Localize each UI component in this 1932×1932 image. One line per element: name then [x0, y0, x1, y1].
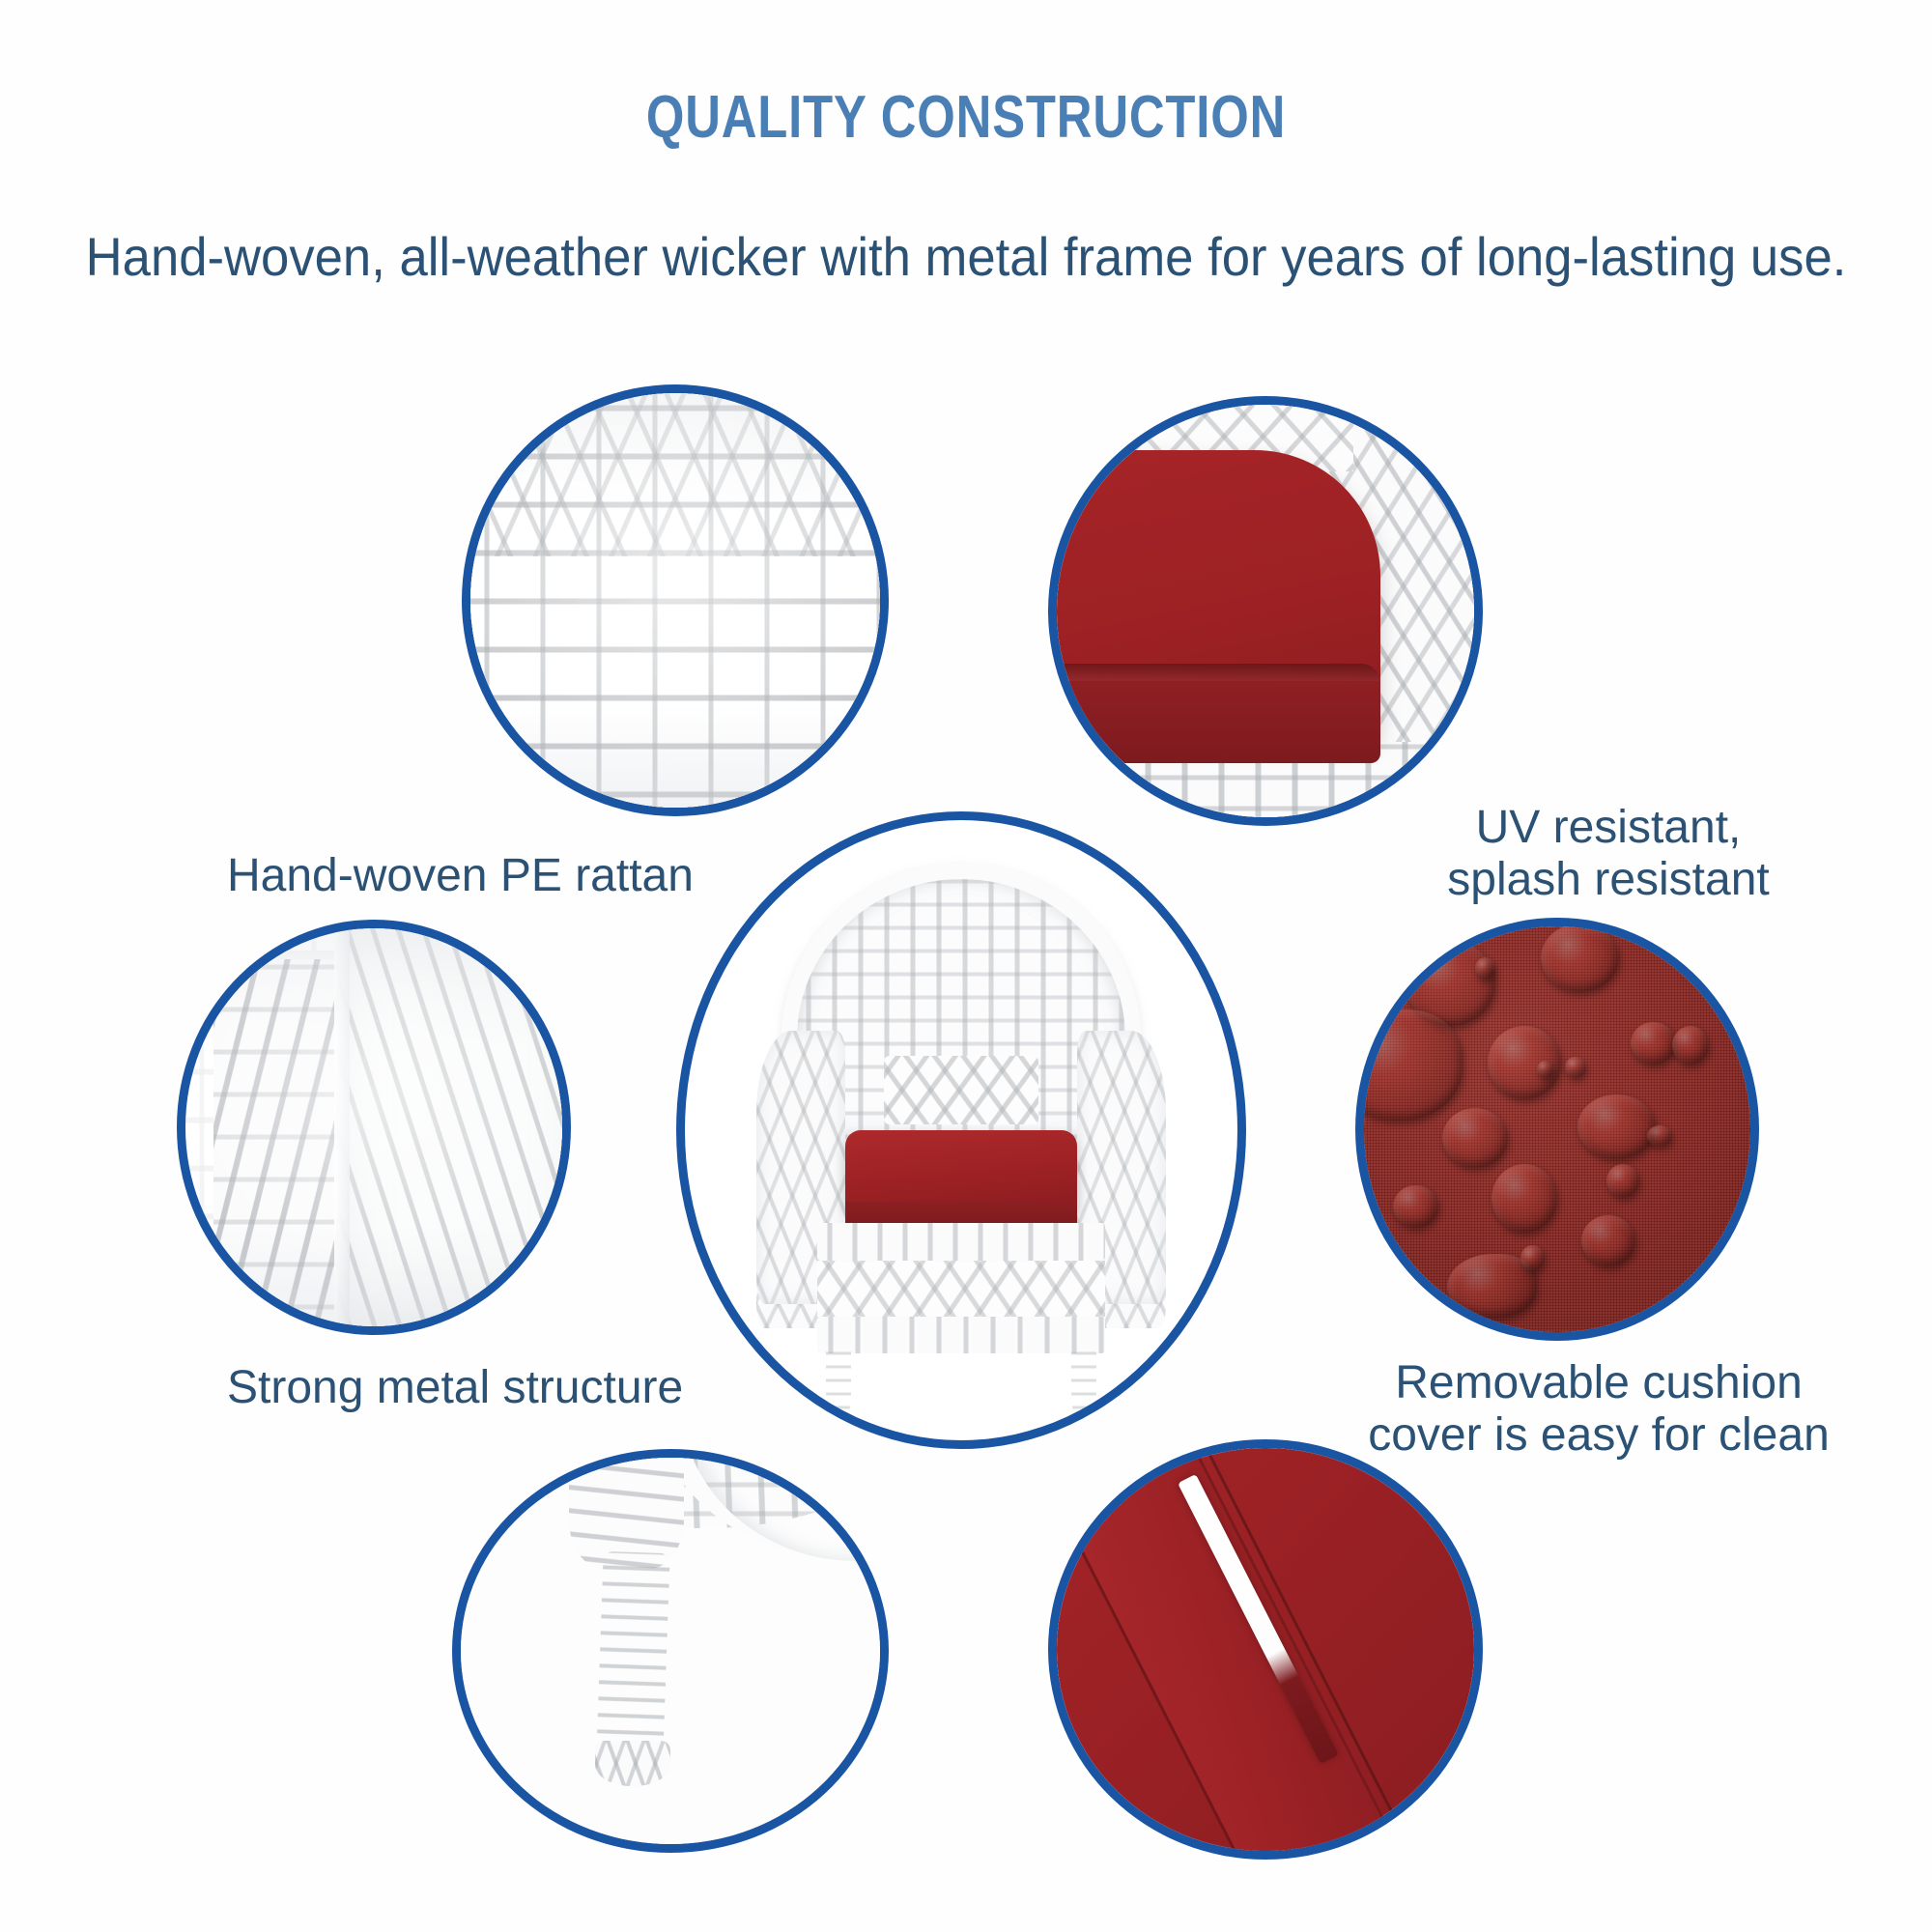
feature-image-zipper-detail [1048, 1439, 1483, 1860]
rattan-weave-texture [462, 384, 889, 816]
cushion-zipper-closeup [1048, 1439, 1483, 1860]
caption-strong-metal-structure: Strong metal structure [227, 1362, 845, 1414]
feature-image-hand-woven-pe-rattan [462, 384, 889, 816]
caption-uv-splash-resistant-line2: splash resistant [1401, 854, 1816, 906]
wicker-armchair-illustration [685, 820, 1237, 1440]
cushion-corner-photo [1048, 396, 1483, 826]
water-droplets-on-fabric [1355, 918, 1759, 1341]
feature-image-chair-overview [676, 811, 1246, 1449]
caption-removable-cushion-cover-line2: cover is easy for clean [1348, 1409, 1850, 1462]
page-subtitle: Hand-woven, all-weather wicker with meta… [58, 225, 1874, 288]
chair-leg-closeup [452, 1449, 889, 1853]
caption-hand-woven-pe-rattan: Hand-woven PE rattan [227, 850, 826, 902]
feature-image-removable-cushion-cover [1355, 918, 1759, 1341]
feature-image-uv-splash-resistant [1048, 396, 1483, 826]
infographic-page: QUALITY CONSTRUCTION Hand-woven, all-wea… [0, 0, 1932, 1932]
arm-corner-weave [177, 920, 571, 1335]
feature-image-strong-metal-structure [177, 920, 571, 1335]
page-title: QUALITY CONSTRUCTION [174, 83, 1758, 152]
caption-uv-splash-resistant-line1: UV resistant, [1401, 802, 1816, 854]
feature-image-leg-detail [452, 1449, 889, 1853]
caption-removable-cushion-cover-line1: Removable cushion [1348, 1357, 1850, 1409]
